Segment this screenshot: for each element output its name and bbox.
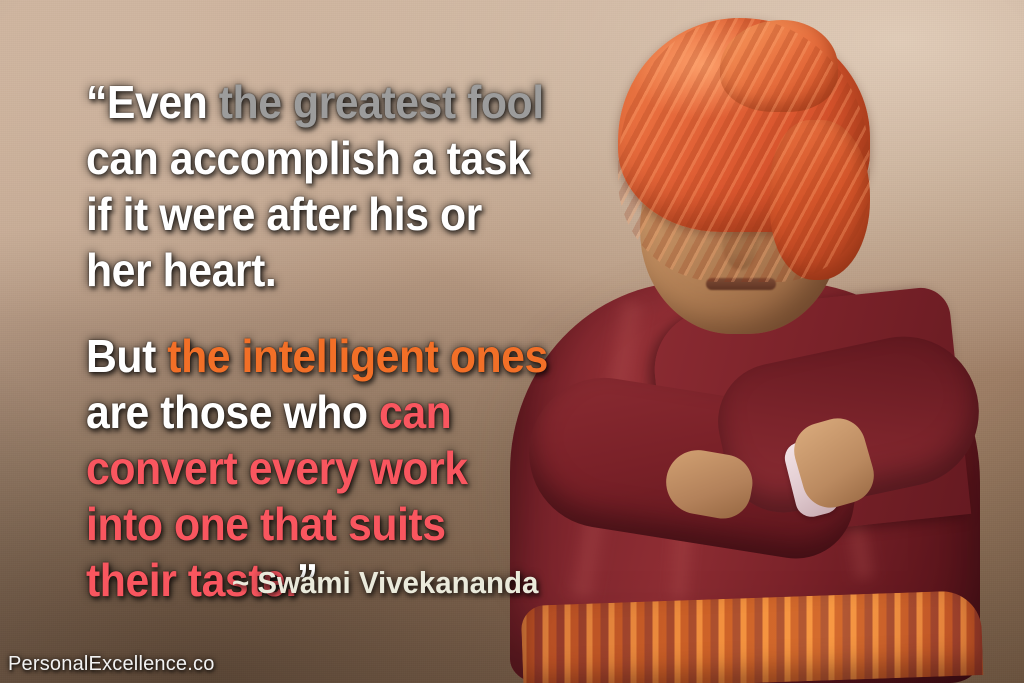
quote-run: her heart. (86, 244, 276, 296)
quote-run: the intelligent ones (167, 330, 548, 382)
quote-line: can accomplish a task (86, 130, 523, 186)
quote-line: But the intelligent ones (86, 328, 523, 384)
quote-text-block: “Even the greatest fool can accomplish a… (86, 74, 556, 608)
quote-poster: “Even the greatest fool can accomplish a… (0, 0, 1024, 683)
quote-line: convert every work (86, 440, 523, 496)
quote-run: into one that suits (86, 498, 446, 550)
quote-run: the greatest fool (219, 76, 544, 128)
quote-line: into one that suits (86, 496, 523, 552)
quote-run: if it were after his or (86, 188, 482, 240)
site-watermark: PersonalExcellence.co (8, 652, 215, 676)
quote-line: are those who can (86, 384, 523, 440)
quote-run: can accomplish a task (86, 132, 530, 184)
portrait-waist-sash (521, 590, 984, 683)
quote-run: convert every work (86, 442, 468, 494)
quote-run: are those who (86, 386, 379, 438)
quote-line: her heart. (86, 242, 523, 298)
quote-attribution: ~ Swami Vivekananda (232, 564, 538, 602)
paragraph-spacer (86, 298, 556, 328)
quote-run: “Even (86, 76, 219, 128)
quote-line: if it were after his or (86, 186, 523, 242)
quote-run: can (379, 386, 451, 438)
quote-line: “Even the greatest fool (86, 74, 523, 130)
quote-run: But (86, 330, 167, 382)
